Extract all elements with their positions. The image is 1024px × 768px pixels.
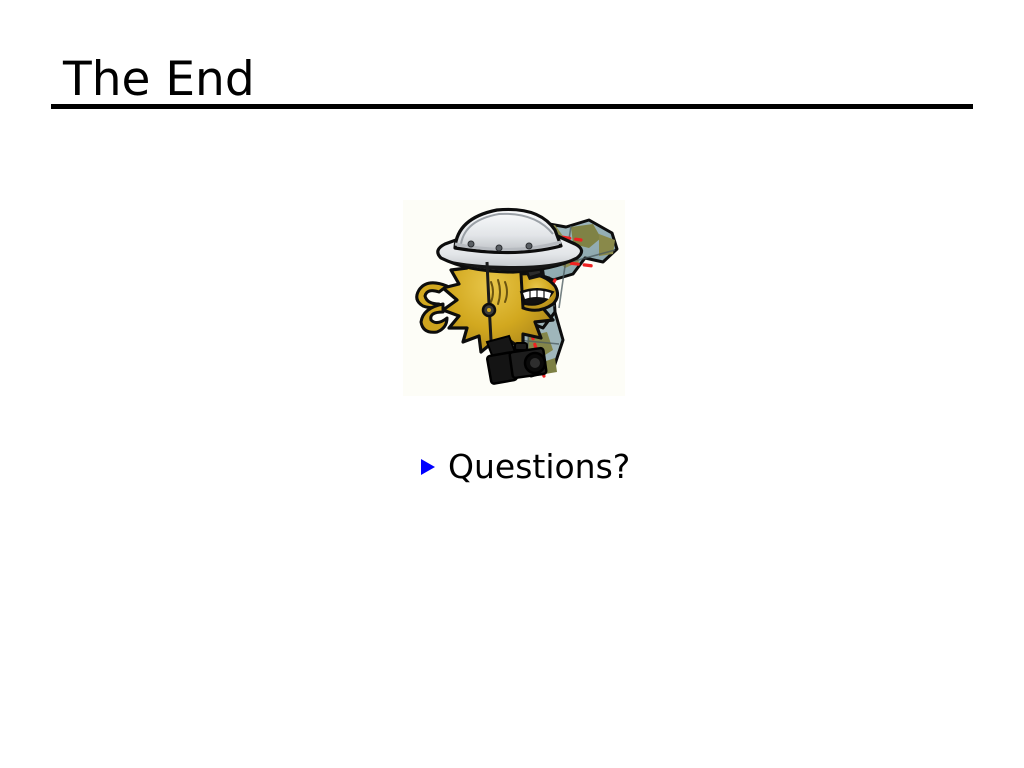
title-divider bbox=[51, 104, 973, 109]
page-title: The End bbox=[63, 52, 255, 108]
puffy-tourist-image bbox=[403, 200, 625, 396]
triangle-right-icon bbox=[421, 459, 435, 475]
bullet-label: Questions? bbox=[448, 447, 630, 487]
presentation-slide: The End bbox=[0, 0, 1024, 768]
list-item: Questions? bbox=[421, 447, 630, 487]
